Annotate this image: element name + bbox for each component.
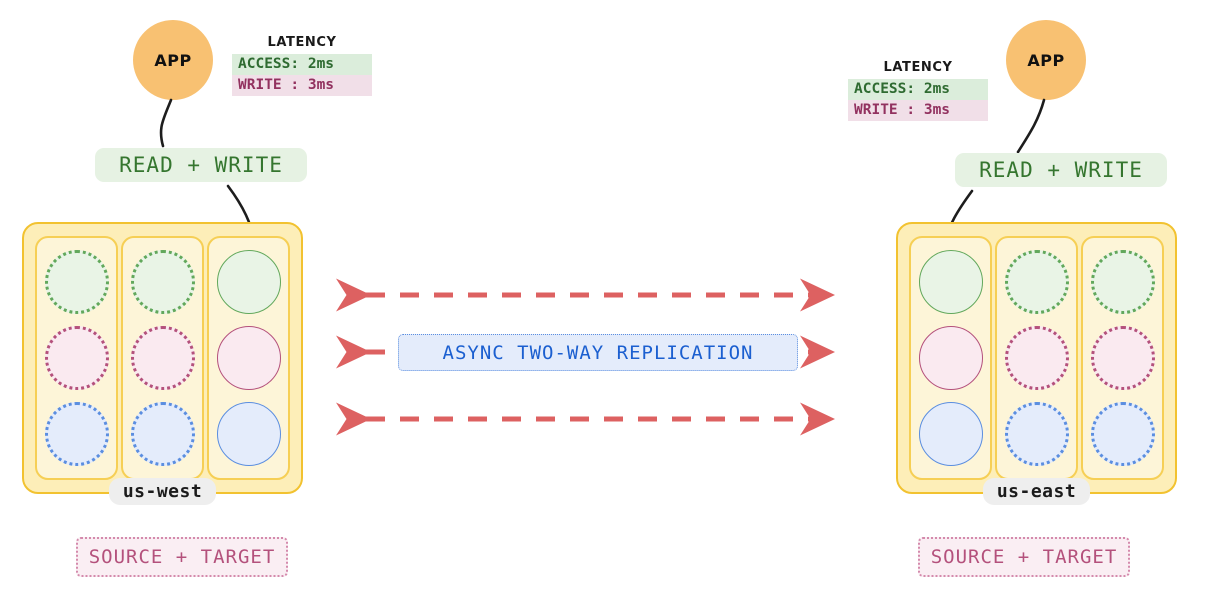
right-node-2-blue[interactable] [1005,402,1069,466]
right-region-name-wrap: us-east [896,478,1177,505]
right-region-name-pill: us-east [983,478,1090,505]
right-node-1-pink[interactable] [919,326,983,390]
right-node-2-pink[interactable] [1005,326,1069,390]
right-node-3-blue[interactable] [1091,402,1155,466]
right-role-text: SOURCE + TARGET [931,546,1118,568]
right-region-column-1[interactable] [909,236,992,480]
right-node-2-green[interactable] [1005,250,1069,314]
right-region-us-east[interactable] [896,222,1177,494]
right-region-column-2[interactable] [995,236,1078,480]
right-node-3-pink[interactable] [1091,326,1155,390]
right-node-3-green[interactable] [1091,250,1155,314]
right-region-column-3[interactable] [1081,236,1164,480]
right-role-badge: SOURCE + TARGET [918,537,1130,577]
right-node-1-green[interactable] [919,250,983,314]
right-node-1-blue[interactable] [919,402,983,466]
